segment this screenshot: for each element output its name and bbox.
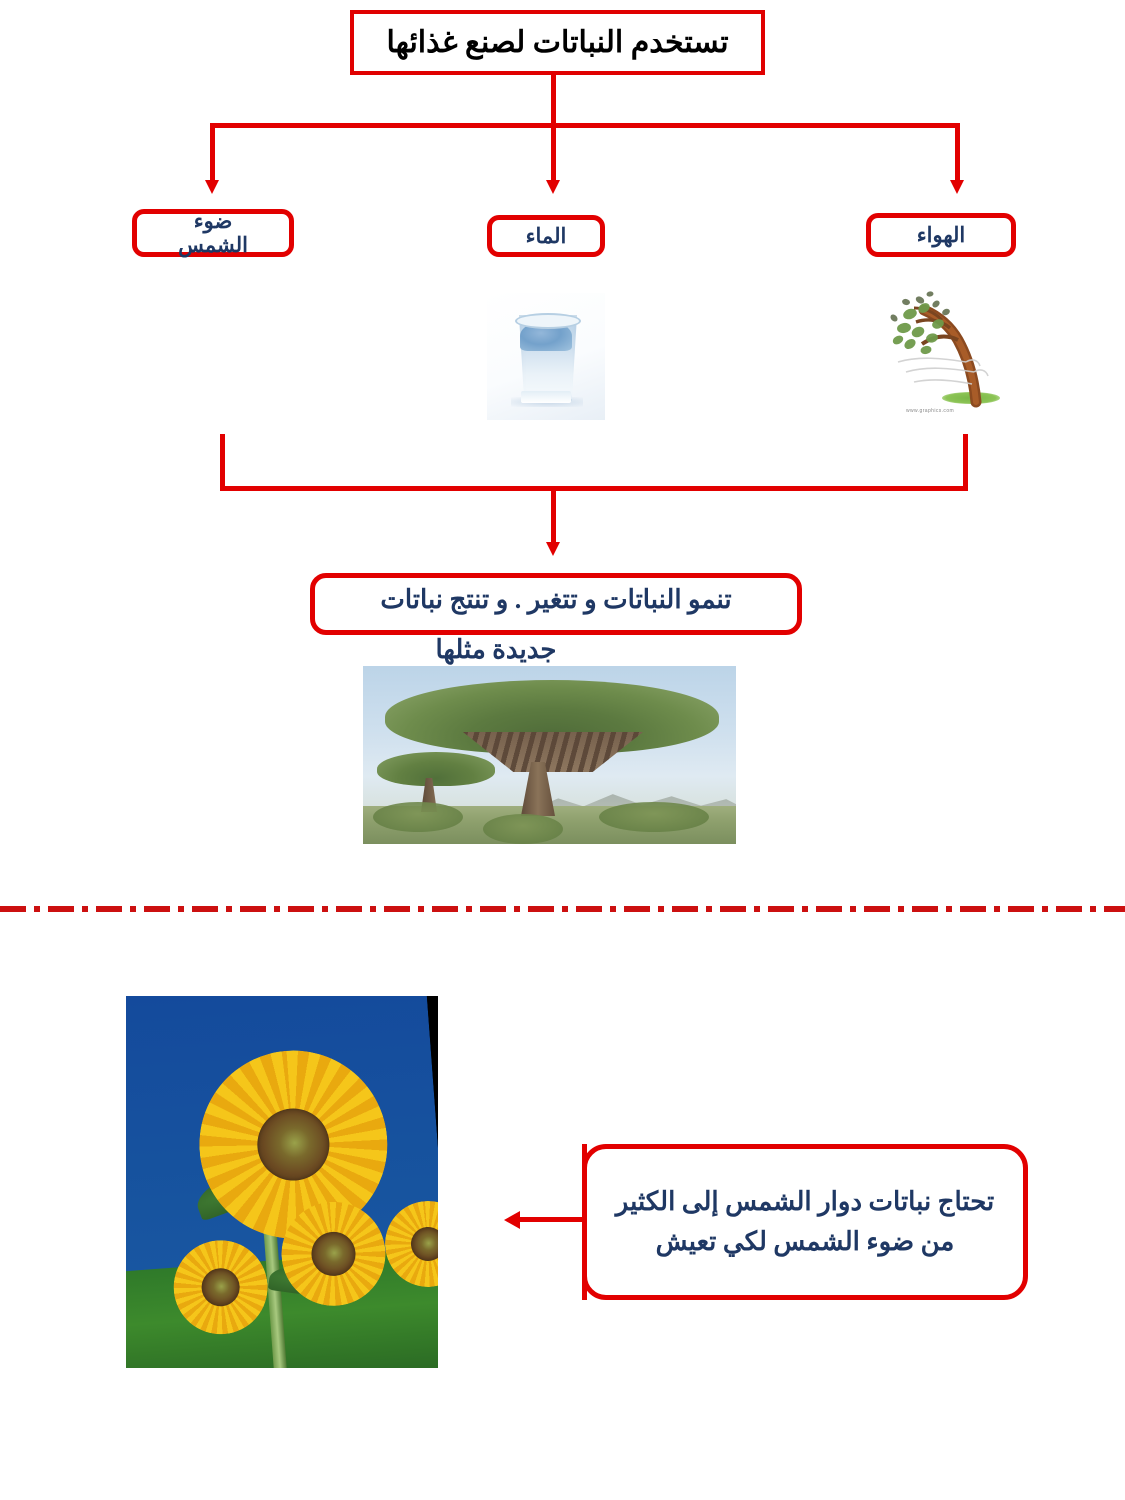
connector-top-bar (210, 123, 960, 128)
sunflower-field-photo (126, 996, 438, 1368)
callout-text: تحتاج نباتات دوار الشمس إلى الكثير من ضو… (613, 1182, 997, 1263)
dragon-blood-tree-photo (363, 666, 736, 844)
connector-merge-left (220, 434, 225, 490)
arrowhead-to-air (950, 180, 964, 194)
callout-connector-line (520, 1217, 582, 1222)
node-label-air: الهواء (917, 223, 965, 247)
node-box-sunlight: ضوء الشمس (132, 209, 294, 257)
section-divider (0, 906, 1125, 912)
connector-branch-right (955, 123, 960, 181)
node-box-water: الماء (487, 215, 605, 257)
tree-drawing (880, 288, 1020, 418)
photo-shrub (373, 802, 463, 832)
arrowhead-to-water (546, 180, 560, 194)
small-tree-canopy (377, 752, 495, 786)
glass-of-water-image (487, 293, 605, 420)
clipart-credit-text: www.graphics.com (906, 408, 954, 414)
result-text-line2: جديدة مثلها (315, 634, 797, 667)
glass-base (521, 391, 571, 403)
callout-arrowhead (504, 1211, 520, 1229)
node-label-water: الماء (526, 224, 567, 248)
node-label-sunlight: ضوء الشمس (107, 209, 320, 257)
arrowhead-to-sunlight (205, 180, 219, 194)
glass-rim (515, 313, 581, 329)
connector-merge-bar (220, 486, 968, 491)
connector-merge-stem (551, 486, 556, 544)
connector-title-stem (551, 75, 556, 127)
callout-box: تحتاج نباتات دوار الشمس إلى الكثير من ضو… (582, 1144, 1028, 1300)
connector-branch-center (551, 123, 556, 181)
result-box: تنمو النباتات و تتغير . و تنتج نباتات جد… (310, 573, 802, 635)
windy-tree-clipart: www.graphics.com (880, 288, 1020, 418)
connector-merge-right (963, 434, 968, 490)
arrowhead-to-result (546, 542, 560, 556)
photo-shrub (599, 802, 709, 832)
connector-branch-left (210, 123, 215, 181)
result-text-line1: تنمو النباتات و تتغير . و تنتج نباتات (315, 584, 797, 617)
node-box-air: الهواء (866, 213, 1016, 257)
title-box: تستخدم النباتات لصنع غذائها (350, 10, 765, 75)
photo-shrub (483, 814, 563, 844)
photo-inner (126, 996, 438, 1368)
diagram-canvas: تستخدم النباتات لصنع غذائها ضوء الشمس ال… (0, 0, 1125, 1500)
